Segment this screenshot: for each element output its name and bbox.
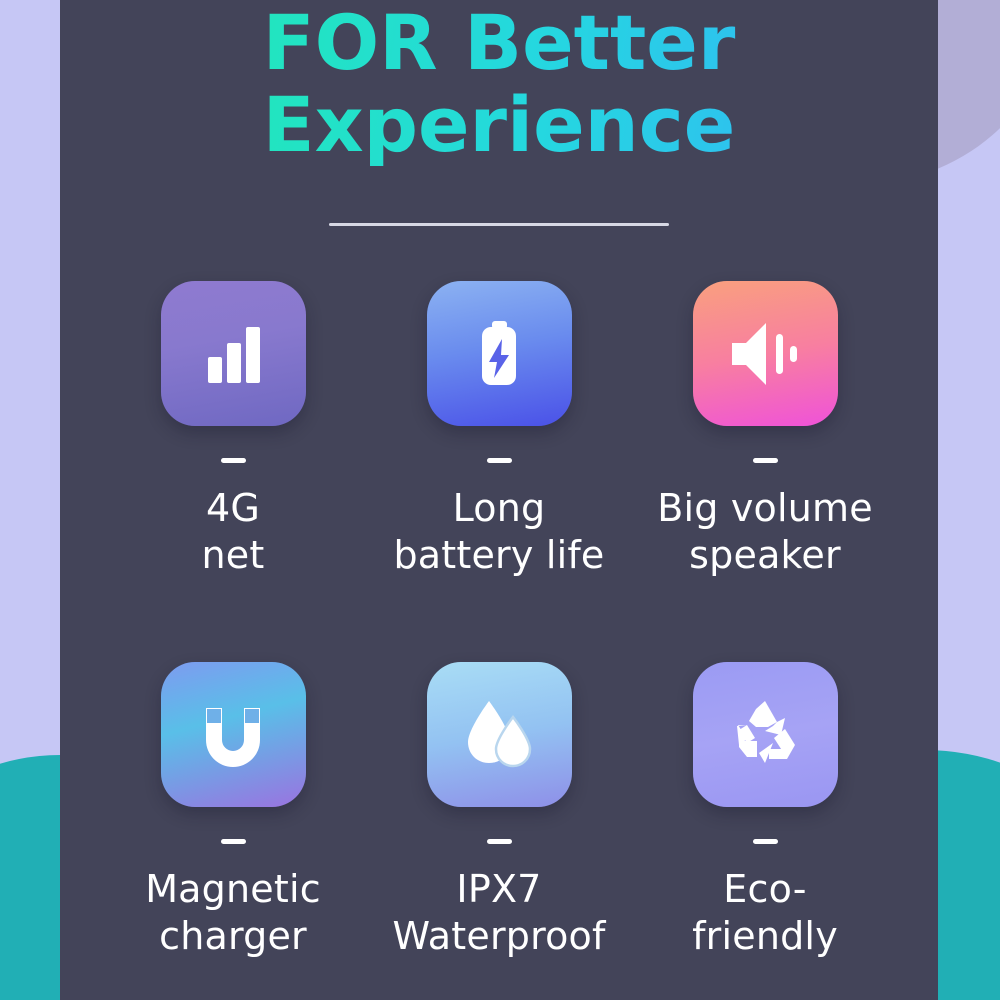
feature-label: IPX7 Waterproof (392, 866, 605, 960)
feature-item-magnetic-charger[interactable]: Magnetic charger (100, 662, 366, 960)
horseshoe-magnet-icon (194, 696, 272, 774)
page-title: FOR Better Experience (60, 0, 938, 166)
feature-item-speaker[interactable]: Big volume speaker (632, 281, 898, 579)
feature-dash (487, 458, 512, 463)
feature-tile-recycle (693, 662, 838, 807)
feature-dash (753, 839, 778, 844)
feature-item-4g-net[interactable]: 4G net (100, 281, 366, 579)
feature-item-battery[interactable]: Long battery life (366, 281, 632, 579)
feature-dash (221, 458, 246, 463)
speaker-volume-icon (724, 313, 806, 395)
battery-charging-icon (459, 314, 539, 394)
feature-tile-4g-net (161, 281, 306, 426)
feature-dash (753, 458, 778, 463)
water-drops-icon (459, 695, 539, 775)
poster-stage: FOR Better Experience 4G net (0, 0, 1000, 1000)
feature-dash (221, 839, 246, 844)
feature-tile-water (427, 662, 572, 807)
feature-tile-magnet (161, 662, 306, 807)
signal-bars-icon (196, 317, 270, 391)
feature-tile-battery (427, 281, 572, 426)
recycle-icon (725, 695, 805, 775)
feature-label: Eco- friendly (692, 866, 838, 960)
feature-label: Long battery life (393, 485, 604, 579)
title-divider (329, 223, 669, 226)
feature-item-waterproof[interactable]: IPX7 Waterproof (366, 662, 632, 960)
feature-label: Big volume speaker (657, 485, 873, 579)
title-line-2: Experience (60, 84, 938, 166)
feature-label: 4G net (202, 485, 265, 579)
feature-dash (487, 839, 512, 844)
feature-label: Magnetic charger (145, 866, 321, 960)
feature-card: FOR Better Experience 4G net (60, 0, 938, 1000)
title-line-1: FOR Better (60, 2, 938, 84)
feature-item-eco-friendly[interactable]: Eco- friendly (632, 662, 898, 960)
feature-tile-speaker (693, 281, 838, 426)
features-grid: 4G net Long battery life (60, 281, 938, 960)
